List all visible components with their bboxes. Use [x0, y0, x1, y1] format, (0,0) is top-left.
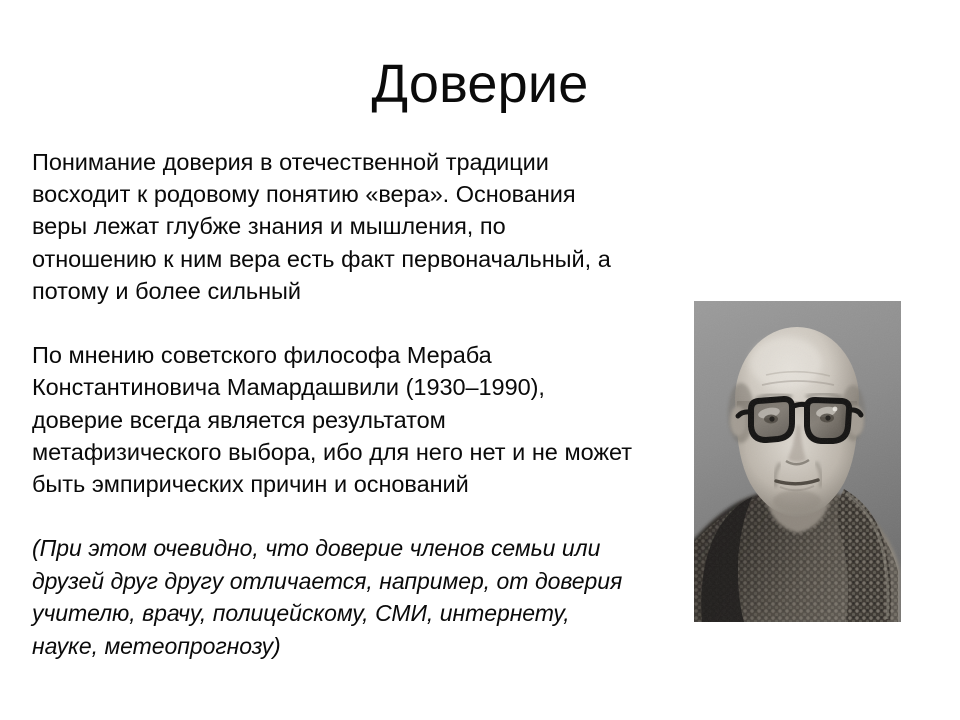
page-title: Доверие: [0, 52, 960, 116]
portrait-photo: [694, 301, 901, 622]
portrait-photo-image: [694, 301, 901, 622]
body-text-column: Понимание доверия в отечественной традиц…: [32, 146, 632, 662]
paragraph-2: По мнению советского философа Мераба Кон…: [32, 339, 632, 500]
paragraph-1: Понимание доверия в отечественной традиц…: [32, 146, 632, 307]
presentation-slide: Доверие Понимание доверия в отечественно…: [0, 0, 960, 720]
paragraph-3-note: (При этом очевидно, что доверие членов с…: [32, 532, 632, 662]
